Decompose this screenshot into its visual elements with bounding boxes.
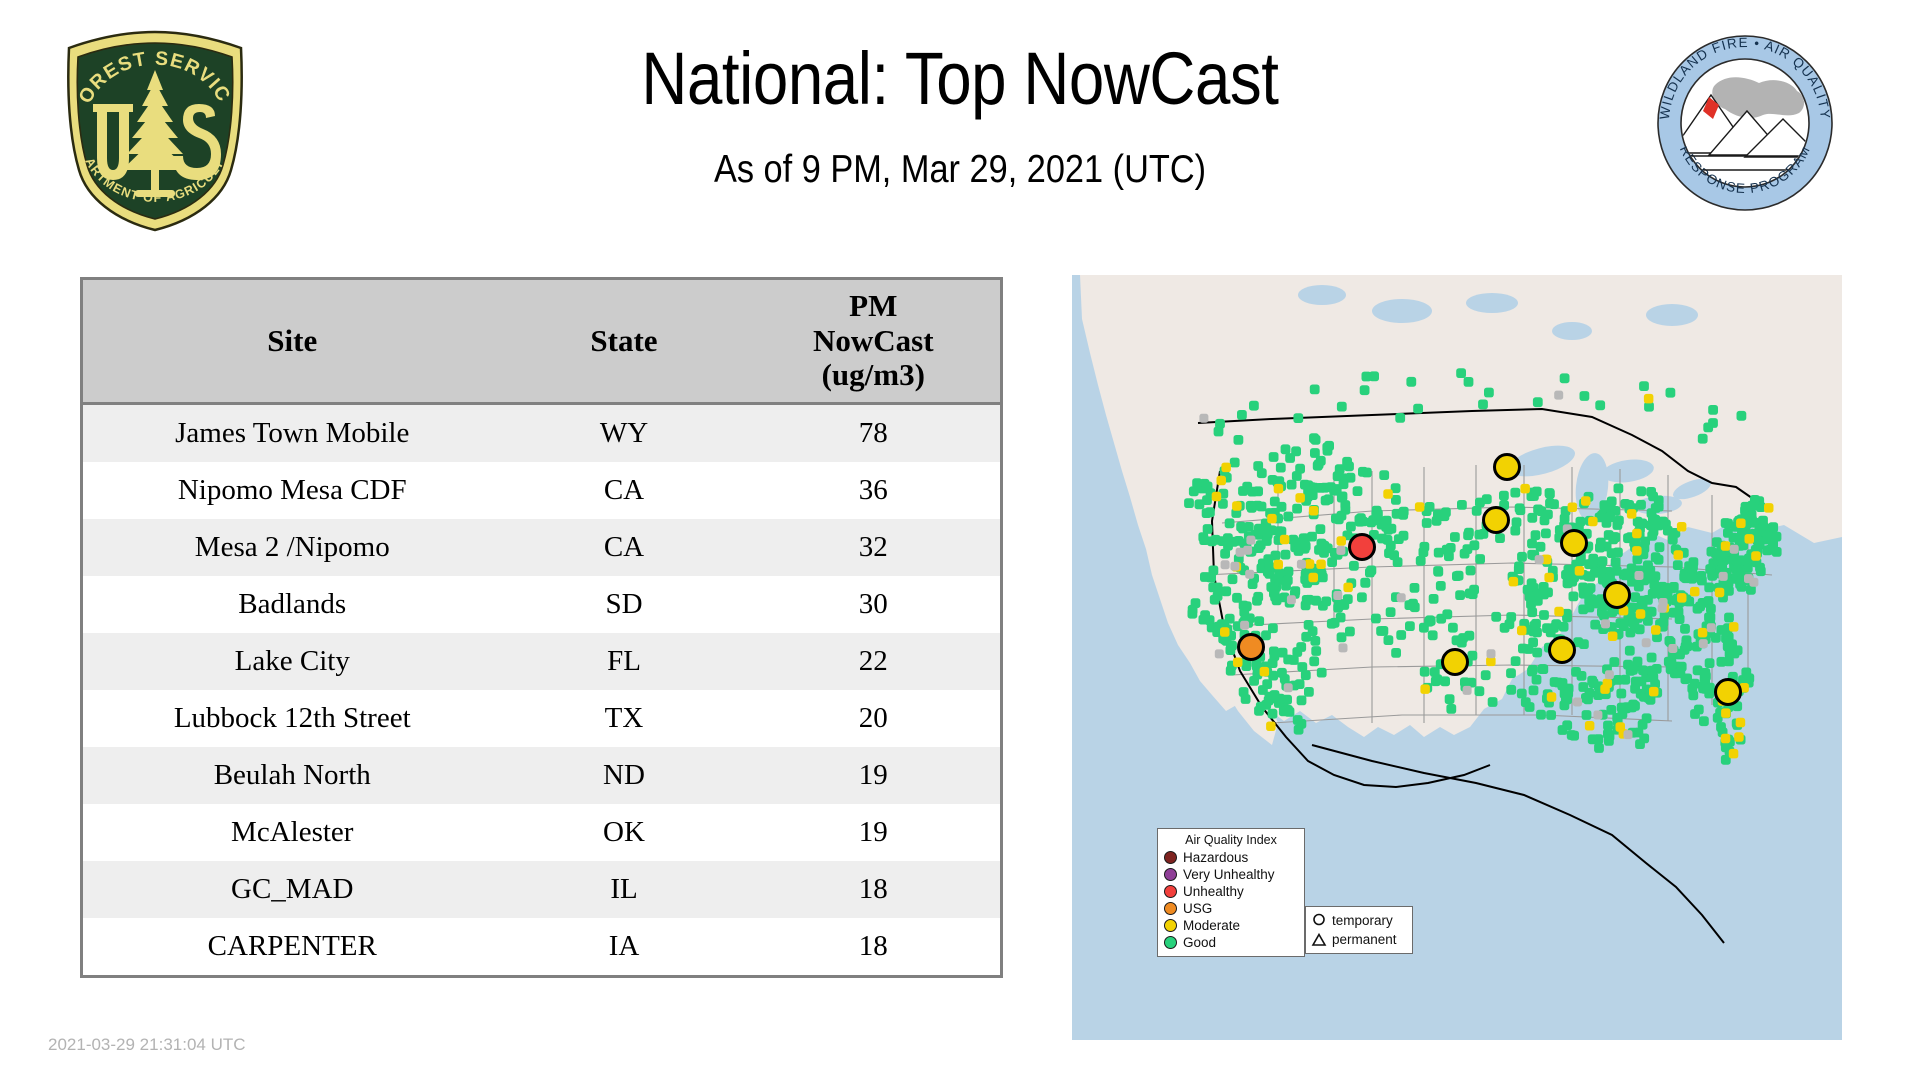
monitor-marker [1679,572,1689,582]
monitor-marker [1343,594,1353,604]
monitor-marker [1673,560,1683,570]
monitor-marker [1751,551,1761,561]
monitor-marker [1463,530,1473,540]
monitor-marker [1357,592,1367,602]
monitor-marker [1594,743,1604,753]
monitor-marker [1266,722,1276,732]
monitor-marker [1221,560,1230,569]
monitor-marker [1506,612,1516,622]
cell-value: 22 [747,633,1002,690]
monitor-marker [1376,626,1386,636]
monitor-marker [1262,523,1272,533]
monitor-marker [1337,402,1347,412]
aqi-swatch-icon [1164,851,1177,864]
monitor-marker [1431,676,1441,686]
legend-label-temporary: temporary [1332,914,1393,928]
cell-value: 78 [747,404,1002,463]
cell-site: GC_MAD [82,861,502,918]
cell-value: 36 [747,462,1002,519]
highlighted-site-marker[interactable] [1716,680,1741,705]
monitor-marker [1268,671,1278,681]
monitor-marker [1527,513,1537,523]
monitor-marker [1475,530,1485,540]
monitor-marker [1262,679,1272,689]
monitor-marker [1694,705,1704,715]
cell-state: IL [502,861,747,918]
monitor-marker [1643,595,1653,605]
monitor-marker [1371,614,1381,624]
monitor-marker [1248,579,1258,589]
monitor-marker [1625,646,1635,656]
monitor-marker [1575,566,1585,576]
monitor-marker [1339,479,1349,489]
monitor-marker [1560,689,1570,699]
monitor-marker [1386,607,1396,617]
monitor-marker [1588,517,1598,527]
monitor-marker [1478,400,1488,410]
monitor-marker [1234,435,1244,445]
monitor-marker [1200,610,1210,620]
monitor-marker [1422,518,1432,528]
monitor-marker [1452,571,1462,581]
monitor-marker [1316,524,1326,534]
monitor-marker [1311,596,1321,606]
cell-value: 32 [747,519,1002,576]
monitor-marker [1506,685,1516,695]
monitor-marker [1372,515,1382,525]
monitor-marker [1397,593,1406,602]
monitor-marker [1529,621,1539,631]
monitor-marker [1319,541,1329,551]
monitor-marker [1525,702,1535,712]
monitor-marker [1609,657,1619,667]
monitor-marker [1532,487,1542,497]
monitor-marker [1295,493,1305,503]
top-nowcast-table-container: Site State PM NowCast (ug/m3) James Town… [80,277,1000,978]
table-row: Nipomo Mesa CDFCA36 [82,462,1002,519]
monitor-marker [1613,548,1623,558]
monitor-marker [1297,719,1307,729]
monitor-marker [1677,522,1687,532]
monitor-marker [1188,609,1198,619]
monitor-marker [1533,596,1543,606]
monitor-marker [1420,684,1430,694]
monitor-marker [1237,410,1247,420]
monitor-marker [1547,692,1557,702]
aqi-swatch-icon [1164,885,1177,898]
monitor-marker [1532,648,1542,658]
highlighted-site-marker[interactable] [1350,535,1375,560]
monitor-marker [1317,668,1327,678]
monitor-marker [1655,542,1665,552]
monitor-marker [1729,749,1739,759]
cell-state: CA [502,519,747,576]
monitor-marker [1293,413,1303,423]
monitor-marker [1745,534,1755,544]
monitor-marker [1620,675,1630,685]
table-header-row: Site State PM NowCast (ug/m3) [82,279,1002,404]
monitor-marker [1297,560,1306,569]
monitor-marker [1280,535,1290,545]
page-subtitle: As of 9 PM, Mar 29, 2021 (UTC) [379,148,1541,192]
monitor-marker [1419,547,1429,557]
table-row: James Town MobileWY78 [82,404,1002,463]
table-row: Beulah NorthND19 [82,747,1002,804]
highlighted-site-marker[interactable] [1562,531,1587,556]
cell-site: Mesa 2 /Nipomo [82,519,502,576]
table-row: McAlesterOK19 [82,804,1002,861]
cell-site: James Town Mobile [82,404,502,463]
monitor-marker [1240,621,1249,630]
monitor-marker [1299,543,1309,553]
monitor-marker [1383,489,1393,499]
monitor-marker [1539,610,1549,620]
highlighted-site-marker[interactable] [1605,583,1630,608]
monitor-marker [1321,597,1331,607]
cell-site: Badlands [82,576,502,633]
monitor-marker [1266,582,1276,592]
monitor-marker [1730,545,1739,554]
monitor-marker [1277,668,1287,678]
table-row: GC_MADIL18 [82,861,1002,918]
aqi-legend: Air Quality Index HazardousVery Unhealth… [1157,828,1305,957]
monitor-marker [1228,574,1238,584]
monitor-marker [1495,533,1505,543]
cell-state: CA [502,462,747,519]
monitor-marker [1285,707,1295,717]
monitor-marker [1488,697,1498,707]
table-body: James Town MobileWY78Nipomo Mesa CDFCA36… [82,404,1002,977]
monitor-marker [1687,684,1697,694]
monitor-marker [1191,598,1201,608]
monitor-marker [1705,564,1715,574]
monitor-marker [1628,665,1638,675]
column-header-site: Site [82,279,502,404]
monitor-marker [1588,734,1598,744]
monitor-marker [1433,566,1443,576]
monitor-marker [1654,555,1664,565]
monitor-marker [1581,496,1591,506]
table-row: CARPENTERIA18 [82,918,1002,977]
monitor-marker [1549,623,1559,633]
monitor-marker [1674,550,1684,560]
monitor-marker [1230,562,1239,571]
monitor-marker [1666,388,1676,398]
monitor-marker [1535,555,1544,564]
monitor-marker [1509,577,1519,587]
monitor-marker [1184,498,1194,508]
monitor-marker [1221,586,1231,596]
monitor-marker [1649,687,1659,697]
monitor-marker [1285,453,1295,463]
monitor-marker [1322,443,1332,453]
monitor-marker [1268,709,1278,719]
monitor-marker [1415,502,1425,512]
monitor-marker [1416,556,1426,566]
monitor-marker [1349,561,1359,571]
monitor-marker [1605,670,1614,679]
monitor-marker [1246,536,1255,545]
monitor-marker [1616,689,1626,699]
monitor-marker [1638,665,1648,675]
aqi-swatch-icon [1164,936,1177,949]
monitor-marker [1654,521,1664,531]
forest-service-shield-icon: FOREST SERVICE DEPARTMENT OF AGRICUL [55,28,255,233]
monitor-marker [1737,411,1747,421]
monitor-marker [1543,510,1553,520]
aqi-legend-title: Air Quality Index [1164,833,1298,847]
monitor-marker [1221,463,1231,473]
monitor-marker [1717,657,1727,667]
aqi-swatch-icon [1164,919,1177,932]
monitor-marker [1527,667,1537,677]
cell-value: 20 [747,690,1002,747]
footer-timestamp: 2021-03-29 21:31:04 UTC [48,1035,246,1055]
monitor-marker [1705,658,1715,668]
monitor-marker [1254,616,1264,626]
monitor-marker [1528,638,1538,648]
monitor-marker [1249,676,1259,686]
cell-value: 18 [747,918,1002,977]
cell-state: OK [502,804,747,861]
monitor-marker [1511,656,1521,666]
monitor-marker [1549,499,1559,509]
aqi-swatch-icon [1164,902,1177,915]
monitor-marker [1214,427,1224,437]
monitor-marker [1321,496,1331,506]
monitor-marker [1512,517,1522,527]
monitor-marker [1327,557,1337,567]
monitor-marker [1536,542,1546,552]
monitor-marker [1700,684,1710,694]
monitor-marker [1605,573,1615,583]
monitor-marker [1517,689,1527,699]
monitor-marker [1284,567,1294,577]
monitor-marker [1283,575,1293,585]
monitor-marker [1304,687,1314,697]
monitor-marker [1465,589,1475,599]
monitor-marker [1562,720,1572,730]
monitor-marker [1647,666,1657,676]
monitor-marker [1605,512,1615,522]
monitor-marker [1410,583,1420,593]
monitor-marker [1585,721,1595,731]
monitor-marker [1209,566,1219,576]
monitor-marker [1735,579,1745,589]
monitor-marker [1772,547,1782,557]
monitor-marker [1296,642,1306,652]
legend-label: Good [1183,936,1216,950]
monitor-marker [1429,594,1439,604]
cell-site: Beulah North [82,747,502,804]
monitor-marker [1606,705,1616,715]
monitor-marker [1353,486,1363,496]
monitor-marker [1487,649,1496,658]
monitor-marker [1515,503,1525,513]
monitor-marker [1434,548,1444,558]
monitor-marker [1639,734,1649,744]
monitor-marker [1470,540,1480,550]
monitor-marker [1580,391,1590,401]
aqi-monitor-map[interactable]: Air Quality Index HazardousVery Unhealth… [1072,275,1842,1040]
monitor-marker [1391,648,1401,658]
monitor-marker [1643,560,1653,570]
monitor-marker [1554,391,1563,400]
monitor-marker [1316,560,1326,570]
monitor-marker [1199,535,1209,545]
monitor-marker [1213,583,1223,593]
monitor-marker [1711,633,1721,643]
monitor-marker [1651,625,1661,635]
monitor-marker [1632,529,1642,539]
monitor-marker [1295,679,1305,689]
cell-state: TX [502,690,747,747]
monitor-marker [1475,554,1485,564]
monitor-marker [1241,694,1251,704]
monitor-marker [1304,620,1314,630]
cell-state: IA [502,918,747,977]
monitor-marker [1472,506,1482,516]
monitor-marker [1307,532,1317,542]
monitor-marker [1636,486,1646,496]
cell-site: Lake City [82,633,502,690]
cell-value: 18 [747,861,1002,918]
monitor-marker [1440,511,1450,521]
monitor-marker [1236,522,1246,532]
column-header-line-3: (ug/m3) [747,358,1001,393]
monitor-marker [1395,413,1405,423]
monitor-marker [1310,636,1320,646]
monitor-marker [1632,546,1642,556]
monitor-marker [1383,535,1393,545]
monitor-marker [1544,573,1554,583]
monitor-marker [1585,688,1595,698]
monitor-marker [1545,488,1555,498]
legend-label: Hazardous [1183,851,1248,865]
legend-label: Moderate [1183,919,1240,933]
triangle-marker-icon [1311,932,1327,948]
monitor-marker [1379,470,1389,480]
monitor-marker [1445,694,1455,704]
monitor-marker [1683,641,1693,651]
monitor-marker [1335,464,1345,474]
monitor-marker [1203,482,1213,492]
monitor-marker [1559,622,1569,632]
monitor-marker [1585,572,1595,582]
monitor-marker [1605,731,1615,741]
monitor-marker [1305,559,1315,569]
monitor-marker [1697,576,1707,586]
highlighted-site-marker[interactable] [1484,508,1509,533]
highlighted-site-marker[interactable] [1443,650,1468,675]
monitor-marker [1667,584,1677,594]
monitor-marker [1428,630,1438,640]
monitor-marker [1360,578,1370,588]
monitor-marker [1446,543,1456,553]
monitor-marker [1245,570,1254,579]
monitor-marker [1613,520,1623,530]
highlighted-site-marker[interactable] [1550,638,1575,663]
monitor-marker [1330,618,1340,628]
monitor-marker [1297,696,1307,706]
monitor-marker [1624,730,1633,739]
monitor-marker [1680,624,1690,634]
highlighted-site-marker[interactable] [1239,635,1264,660]
monitor-marker [1569,731,1579,741]
monitor-marker [1719,572,1728,581]
monitor-marker [1210,595,1220,605]
monitor-marker [1677,593,1687,603]
legend-row-unhealthy: Unhealthy [1164,883,1298,900]
table-row: Lake CityFL22 [82,633,1002,690]
monitor-marker [1205,507,1215,517]
legend-row-usg: USG [1164,900,1298,917]
monitor-marker [1481,670,1491,680]
monitor-marker [1706,604,1716,614]
monitor-marker [1654,495,1664,505]
cell-state: SD [502,576,747,633]
page-header: FOREST SERVICE DEPARTMENT OF AGRICUL [0,0,1920,270]
monitor-marker [1527,539,1537,549]
monitor-marker [1220,627,1230,637]
cell-state: ND [502,747,747,804]
monitor-marker [1484,388,1494,398]
monitor-marker [1560,373,1570,383]
monitor-marker [1256,702,1266,712]
monitor-marker [1645,574,1655,584]
monitor-marker [1345,627,1355,637]
monitor-marker [1289,655,1299,665]
monitor-marker [1603,679,1613,689]
monitor-marker [1564,565,1574,575]
monitor-marker [1455,590,1465,600]
table-row: BadlandsSD30 [82,576,1002,633]
monitor-marker [1466,566,1476,576]
monitor-marker [1311,646,1321,656]
monitor-marker [1699,716,1709,726]
monitor-marker [1658,604,1667,613]
monitor-marker [1267,514,1277,524]
cell-site: Nipomo Mesa CDF [82,462,502,519]
monitor-marker [1589,678,1599,688]
monitor-type-legend: temporary permanent [1305,906,1413,954]
highlighted-site-marker[interactable] [1495,455,1520,480]
monitor-marker [1741,668,1751,678]
monitor-marker [1242,601,1252,611]
monitor-marker [1346,522,1356,532]
monitor-marker [1729,622,1739,632]
monitor-marker [1333,591,1342,600]
column-header-line-2: NowCast [747,324,1001,359]
legend-label: Very Unhealthy [1183,868,1275,882]
monitor-marker [1475,686,1485,696]
monitor-marker [1756,566,1766,576]
monitor-marker [1292,471,1302,481]
monitor-marker [1277,502,1287,512]
monitor-marker [1405,621,1415,631]
monitor-marker [1309,506,1319,516]
monitor-marker [1517,626,1527,636]
monitor-marker [1254,543,1264,553]
wildland-fire-air-quality-response-program-icon: WILDLAND FIRE • AIR QUALITY RESPONSE PRO… [1655,33,1835,213]
monitor-marker [1736,718,1746,728]
monitor-marker [1700,668,1710,678]
monitor-marker [1310,385,1320,395]
monitor-marker [1263,554,1273,564]
monitor-marker [1614,484,1624,494]
monitor-marker [1674,607,1684,617]
monitor-marker [1246,501,1256,511]
